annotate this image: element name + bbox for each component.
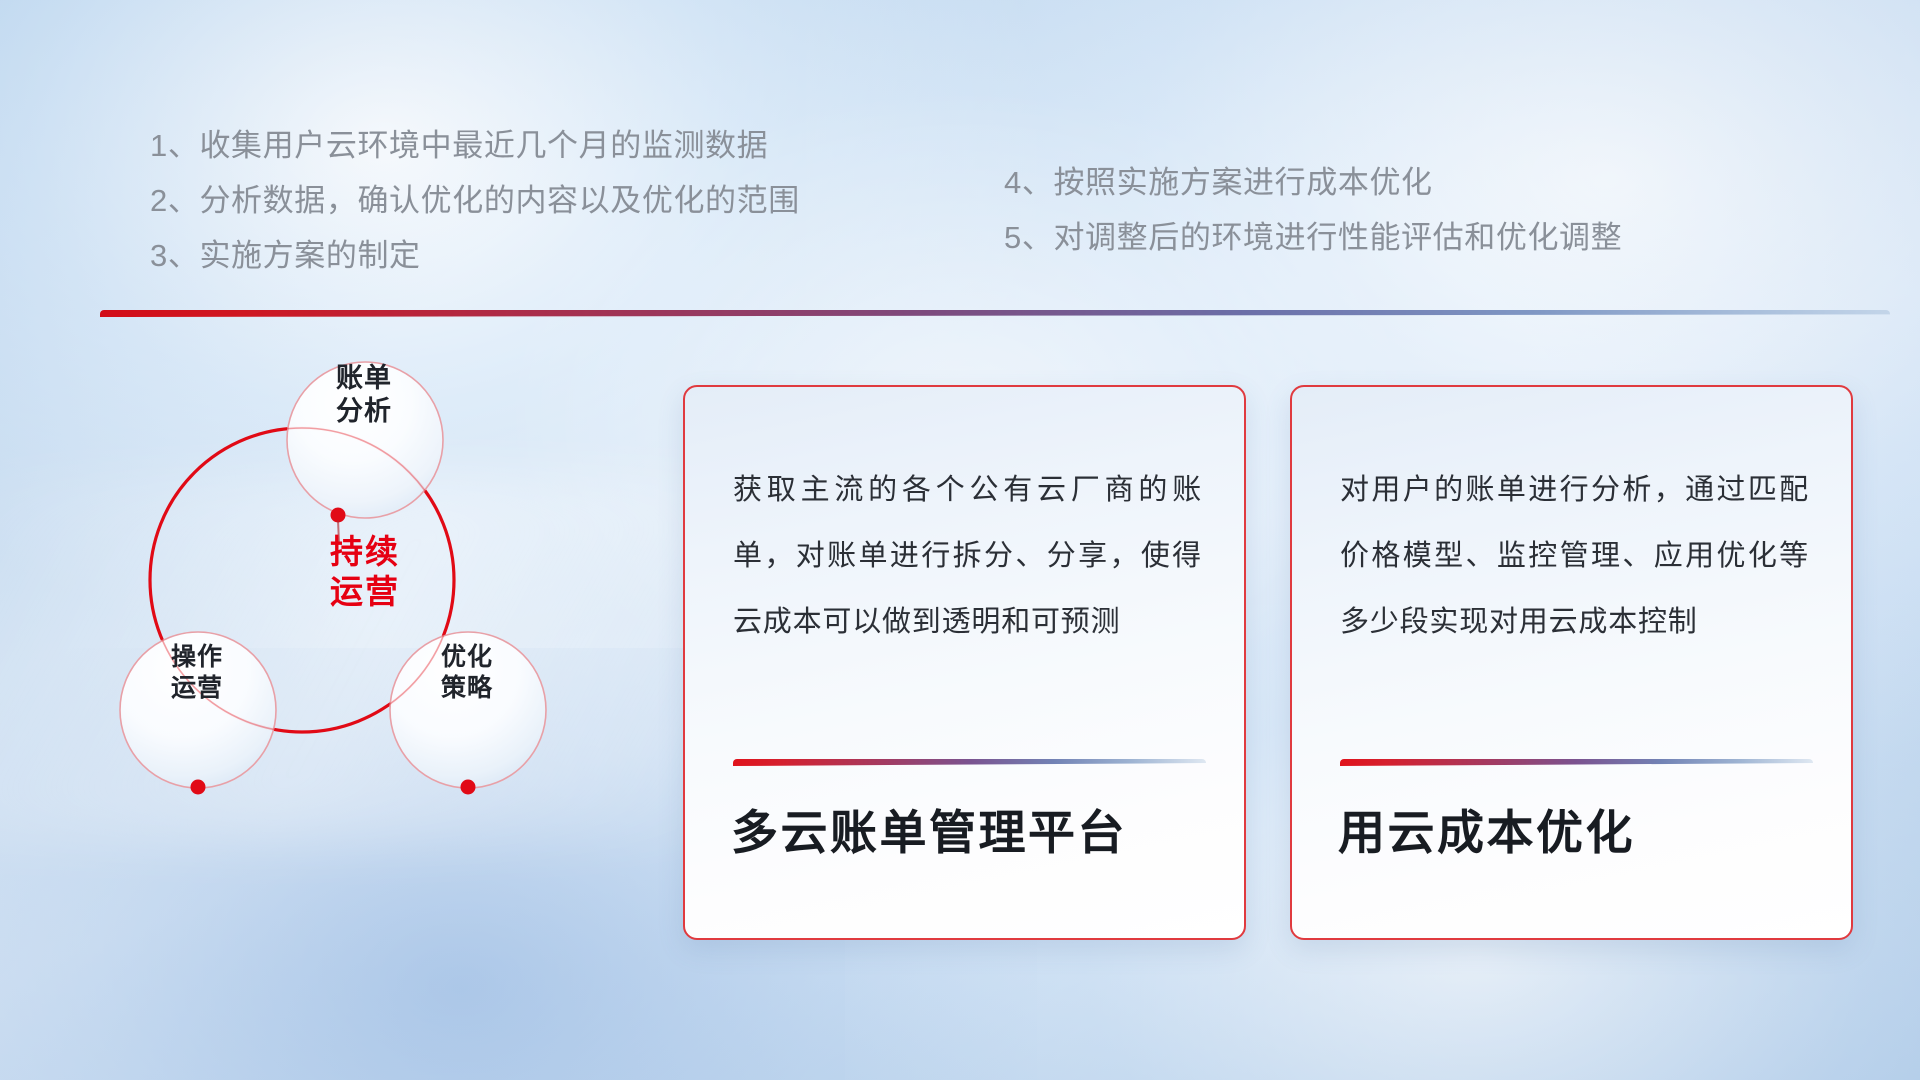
card-title: 用云成本优化 xyxy=(1338,807,1821,859)
card-title: 多云账单管理平台 xyxy=(731,807,1214,859)
feature-cards: 获取主流的各个公有云厂商的账单，对账单进行拆分、分享，使得云成本可以做到透明和可… xyxy=(0,0,1920,1080)
card-divider-rule xyxy=(1340,759,1813,766)
card-body-text: 对用户的账单进行分析，通过匹配价格模型、监控管理、应用优化等多少段实现对用云成本… xyxy=(1340,457,1809,655)
card-body-text: 获取主流的各个公有云厂商的账单，对账单进行拆分、分享，使得云成本可以做到透明和可… xyxy=(733,457,1202,655)
card-divider-rule xyxy=(733,759,1206,766)
card-multicloud-billing-platform[interactable]: 获取主流的各个公有云厂商的账单，对账单进行拆分、分享，使得云成本可以做到透明和可… xyxy=(683,385,1246,940)
card-cloud-cost-optimization[interactable]: 对用户的账单进行分析，通过匹配价格模型、监控管理、应用优化等多少段实现对用云成本… xyxy=(1290,385,1853,940)
